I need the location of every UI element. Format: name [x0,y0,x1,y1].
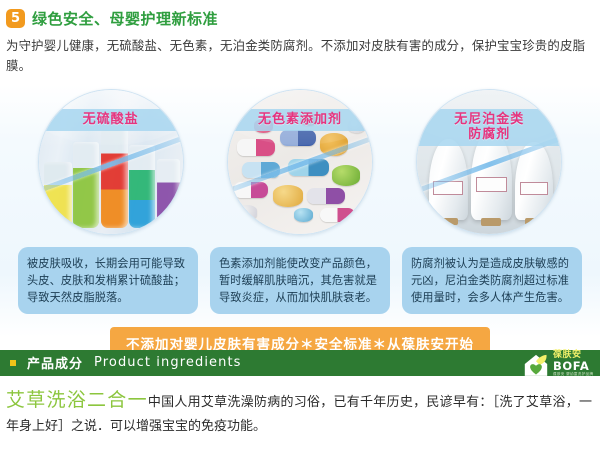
section-bar-product-ingredients: 产品成分 Product ingredients 葆肤安 BOFA 葆肤安 婴幼… [0,350,600,376]
feature-description-bubble: 被皮肤吸收，长期会用可能导致头皮、皮肤和发梢累计硫酸盐；导致天然皮脂脱落。 [18,247,198,314]
feature-label: 无硫酸盐 [39,112,183,127]
brand-name-en: BOFA [553,361,593,373]
feature-label: 无色素添加剂 [228,112,372,127]
feature-label: 无尼泊金类 [417,112,561,127]
feature-label-band: 无色素添加剂 [228,109,372,131]
intro-paragraph: 为守护婴儿健康，无硫酸盐、无色素，无泊金类防腐剂。不添加对皮肤有害的成分，保护宝… [6,36,592,77]
feature-descriptions-row: 被皮肤吸收，长期会用可能导致头皮、皮肤和发梢累计硫酸盐；导致天然皮脂脱落。 色素… [0,235,600,314]
feature-circle: 无尼泊金类 防腐剂 [416,89,562,235]
feature-circles-row: 无硫酸盐 [0,85,600,235]
feature-label-band: 无尼泊金类 防腐剂 [417,109,561,147]
feature-circle: 无色素添加剂 [227,89,373,235]
section-title-en: Product ingredients [94,355,242,370]
house-leaf-logo-icon [522,350,550,378]
features-panel: 无硫酸盐 [0,85,600,337]
section-title-cn: 产品成分 [27,353,83,372]
feature-item-paraben-free: 无尼泊金类 防腐剂 [416,89,562,235]
feature-description-bubble: 色素添加剂能使改变产品颜色，暂时缓解肌肤暗沉，其危害就是导致炎症，从而加快肌肤衰… [210,247,390,314]
feature-item-dye-free: 无色素添加剂 [227,89,373,235]
bullet-square-icon [10,360,16,366]
feature-circle: 无硫酸盐 [38,89,184,235]
page-title: 绿色安全、母婴护理新标准 [32,8,218,29]
brand-tagline: 葆肤安 婴幼童洗护品牌 [553,373,593,377]
bottom-lead-text: 艾草洗浴二合一 [6,389,148,411]
brand-logo-text: 葆肤安 BOFA 葆肤安 婴幼童洗护品牌 [553,351,593,377]
feature-description-bubble: 防腐剂被认为是造成皮肤敏感的元凶，尼泊金类防腐剂超过标准使用量时，会多人体产生危… [402,247,582,314]
bottom-paragraph: 艾草洗浴二合一中国人用艾草洗澡防病的习俗，已有千年历史，民谚早有：［洗了艾草浴，… [6,385,592,437]
feature-label-line2: 防腐剂 [417,127,561,142]
section-number-badge: 5 [6,9,25,28]
feature-item-sulfate-free: 无硫酸盐 [38,89,184,235]
brand-logo: 葆肤安 BOFA 葆肤安 婴幼童洗护品牌 [522,348,596,380]
feature-label-band: 无硫酸盐 [39,109,183,131]
page-header: 5 绿色安全、母婴护理新标准 [0,0,600,29]
